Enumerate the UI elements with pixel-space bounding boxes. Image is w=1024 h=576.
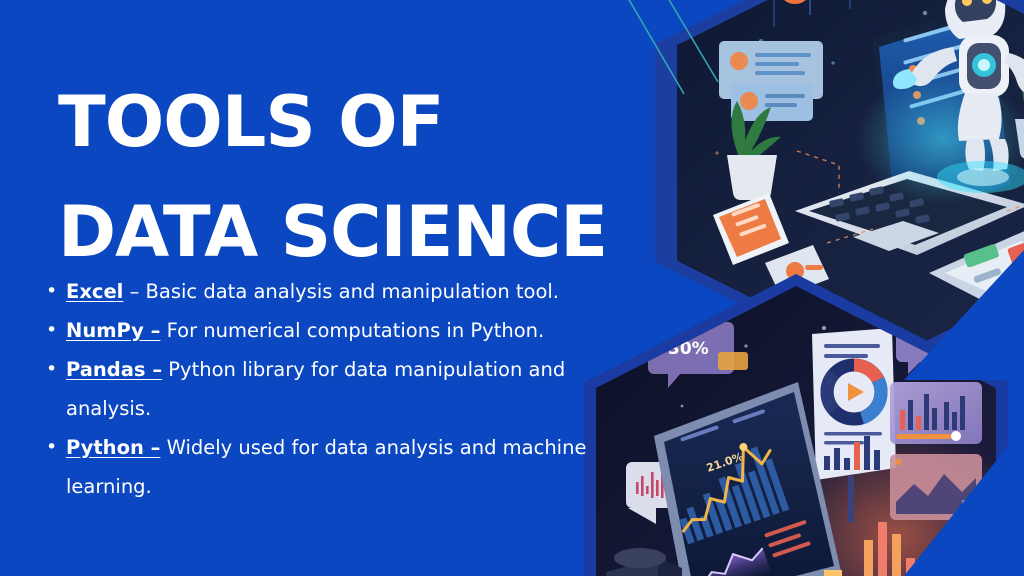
tool-description: – Basic data analysis and manipulation t…	[123, 280, 559, 303]
bullet-icon: •	[46, 350, 66, 389]
bullet-icon: •	[46, 311, 66, 350]
list-item-text: Python – Widely used for data analysis a…	[66, 428, 591, 506]
slide: 30%	[0, 0, 1024, 576]
list-item: • NumPy – For numerical computations in …	[46, 311, 591, 350]
tool-name: Python –	[66, 436, 160, 459]
list-item-text: Excel – Basic data analysis and manipula…	[66, 272, 591, 311]
bullet-icon: •	[46, 272, 66, 311]
list-item-text: Pandas – Python library for data manipul…	[66, 350, 591, 428]
tool-name: Pandas –	[66, 358, 162, 381]
list-item-text: NumPy – For numerical computations in Py…	[66, 311, 591, 350]
tool-name: NumPy –	[66, 319, 160, 342]
bullet-icon: •	[46, 428, 66, 467]
list-item: • Pandas – Python library for data manip…	[46, 350, 591, 428]
tool-description: For numerical computations in Python.	[160, 319, 544, 342]
list-item: • Python – Widely used for data analysis…	[46, 428, 591, 506]
page-title: Tools of Data Science	[58, 67, 658, 287]
list-item: • Excel – Basic data analysis and manipu…	[46, 272, 591, 311]
tools-list: • Excel – Basic data analysis and manipu…	[46, 272, 591, 506]
tool-name: Excel	[66, 280, 123, 303]
